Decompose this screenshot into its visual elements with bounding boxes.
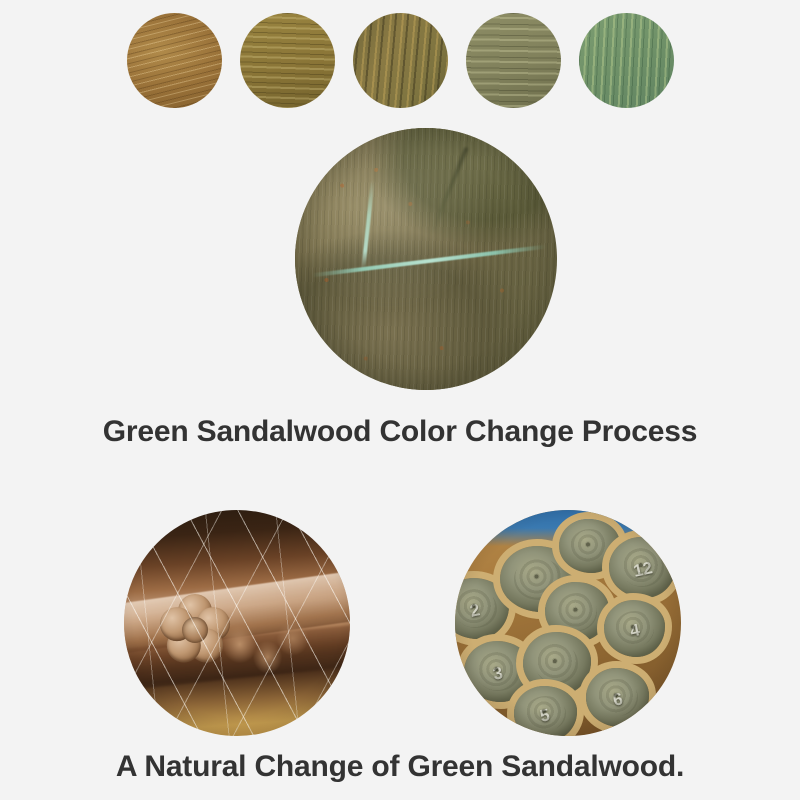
stacked-logs-photo[interactable]: 2 12 4 3 5 6 [455,510,681,736]
product-infographic: Green Sandalwood Color Change Process 2 [0,0,800,800]
wood-grain-texture [353,13,448,108]
wood-swatch-circle-icon-2[interactable] [240,13,335,108]
gallery-caption: A Natural Change of Green Sandalwood. [0,750,800,784]
wood-swatch-circle-icon-3[interactable] [353,13,448,108]
carved-bangle-photo[interactable] [124,510,350,736]
wood-swatch-circle-icon-4[interactable] [466,13,561,108]
wood-swatch-circle-icon-5[interactable] [579,13,674,108]
bottom-photo-pair: 2 12 4 3 5 6 [0,510,800,736]
hero-vignette [295,128,557,390]
hero-bead-closeup[interactable] [295,128,557,390]
wood-grain-texture [240,13,335,108]
wood-grain-texture [127,13,222,108]
wood-grain-texture [466,13,561,108]
wood-swatch-circle-icon-1[interactable] [127,13,222,108]
hero-caption: Green Sandalwood Color Change Process [0,415,800,449]
thumb-vignette [455,510,681,736]
wood-grain-texture [579,13,674,108]
color-stage-swatch-row [0,10,800,110]
thumb-vignette [124,510,350,736]
